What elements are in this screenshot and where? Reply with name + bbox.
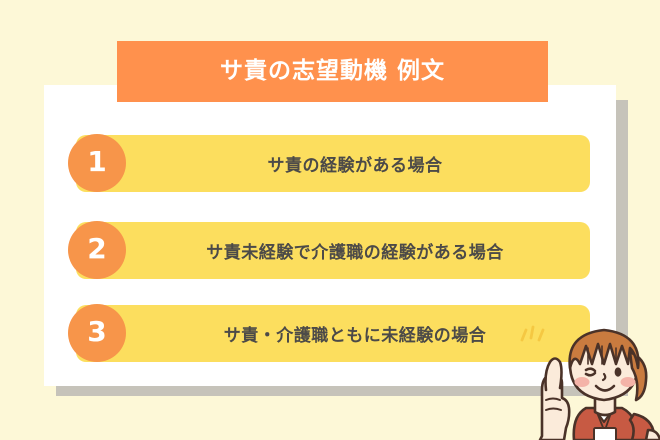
list-item[interactable]: サ責未経験で介護職の経験がある場合 xyxy=(76,222,590,279)
pointing-woman-illustration xyxy=(512,318,660,440)
list-item-number: 1 xyxy=(87,148,106,176)
page-title: サ責の志望動機 例文 xyxy=(220,60,445,83)
list-item-number: 3 xyxy=(87,318,106,346)
list-item-label: サ責未経験で介護職の経験がある場合 xyxy=(130,222,580,279)
slide-canvas: サ責の志望動機 例文 サ責の経験がある場合 1 サ責未経験で介護職の経験がある場… xyxy=(0,0,660,440)
list-item-number-badge: 1 xyxy=(68,134,126,192)
list-item-label: サ責の経験がある場合 xyxy=(130,135,580,192)
list-item-number: 2 xyxy=(87,235,106,263)
list-item-number-badge: 2 xyxy=(68,221,126,279)
list-item-number-badge: 3 xyxy=(68,304,126,362)
list-item[interactable]: サ責の経験がある場合 xyxy=(76,135,590,192)
title-banner: サ責の志望動機 例文 xyxy=(117,41,548,102)
